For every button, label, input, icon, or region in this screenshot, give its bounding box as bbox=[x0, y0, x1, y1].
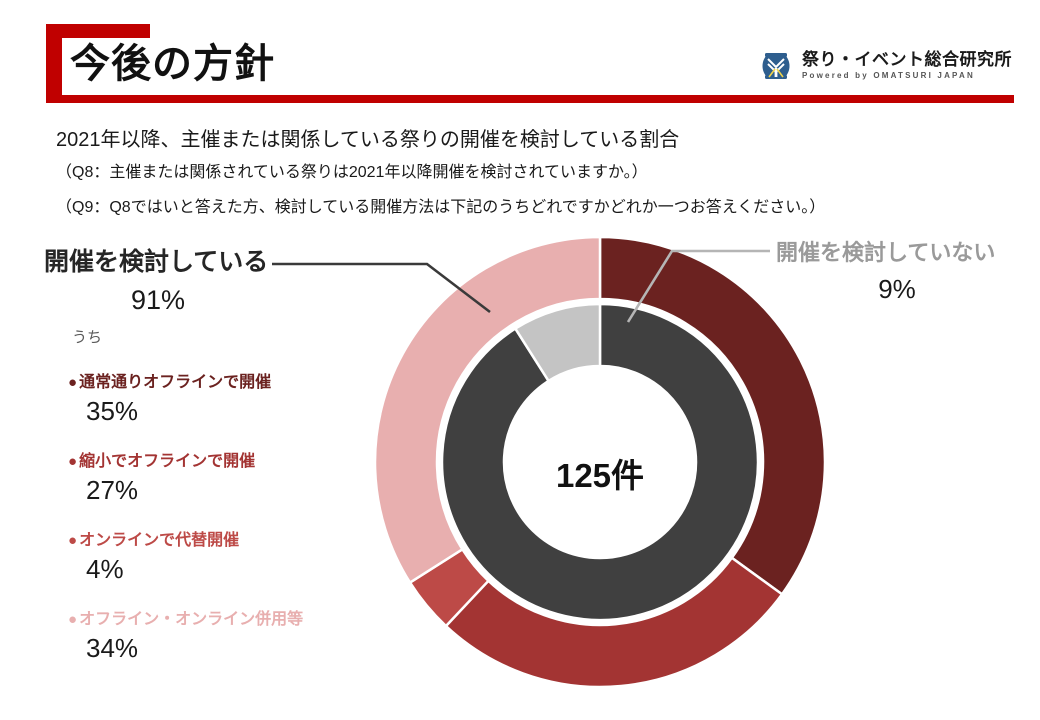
breakdown-label: うち bbox=[72, 327, 102, 349]
left-callout-title: 開催を検討している bbox=[44, 246, 268, 278]
legend-value: 4% bbox=[68, 552, 368, 586]
page-title: 今後の方針 bbox=[70, 38, 275, 90]
chart-center-label: 125件 bbox=[470, 455, 730, 497]
legend-bullet-icon: ● bbox=[68, 451, 77, 473]
legend-label: オンラインで代替開催 bbox=[79, 530, 239, 552]
list-item: ● 通常通りオフラインで開催 35% bbox=[68, 372, 368, 428]
legend-label: 通常通りオフラインで開催 bbox=[79, 372, 271, 394]
legend-value: 35% bbox=[68, 394, 368, 428]
legend-value: 34% bbox=[68, 631, 368, 665]
logo-name: 祭り・イベント総合研究所 bbox=[802, 50, 1012, 70]
list-item: ● オフライン・オンライン併用等 34% bbox=[68, 609, 368, 665]
legend-label: オフライン・オンライン併用等 bbox=[79, 609, 303, 631]
lead-headline: 2021年以降、主催または関係している祭りの開催を検討している割合 bbox=[56, 126, 679, 154]
title-frame-bottom-bar bbox=[46, 95, 1014, 103]
logo-tagline: Powered by OMATSURI JAPAN bbox=[802, 70, 1012, 82]
legend-bullet-icon: ● bbox=[68, 530, 77, 552]
slide-canvas: 今後の方針 祭り・イベント総合研究所 Powered by OMATSURI J… bbox=[0, 0, 1040, 720]
legend-value: 27% bbox=[68, 473, 368, 507]
list-item: ● 縮小でオフラインで開催 27% bbox=[68, 451, 368, 507]
legend-bullet-icon: ● bbox=[68, 609, 77, 631]
legend-bullet-icon: ● bbox=[68, 372, 77, 394]
question-q8: （Q8：主催または関係されている祭りは2021年以降開催を検討されていますか。） bbox=[56, 161, 648, 185]
legend-label: 縮小でオフラインで開催 bbox=[79, 451, 255, 473]
omatsuri-lantern-icon bbox=[758, 48, 794, 84]
list-item: ● オンラインで代替開催 4% bbox=[68, 530, 368, 586]
title-frame-left-bar bbox=[46, 24, 62, 102]
chart-legend: ● 通常通りオフラインで開催 35% ● 縮小でオフラインで開催 27% ● オ… bbox=[68, 372, 368, 688]
left-callout-value: 91% bbox=[44, 283, 272, 317]
question-q9: （Q9：Q8ではいと答えた方、検討している開催方法は下記のうちどれですかどれか一… bbox=[56, 196, 825, 220]
brand-logo: 祭り・イベント総合研究所 Powered by OMATSURI JAPAN bbox=[758, 48, 1012, 84]
